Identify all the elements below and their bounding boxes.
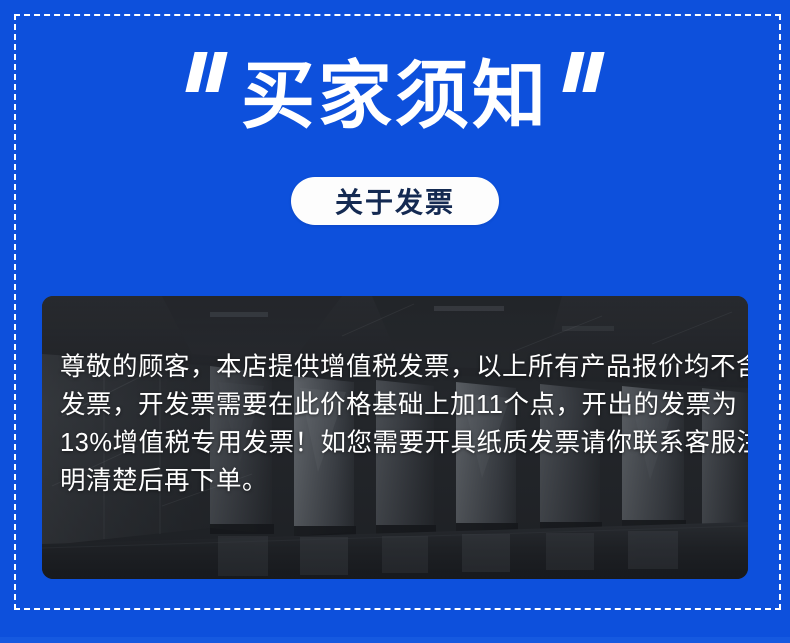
- buyer-notice-banner: 买家须知 关于发票: [0, 0, 790, 643]
- close-quote-icon: [567, 52, 600, 92]
- about-invoice-badge[interactable]: 关于发票: [291, 177, 499, 225]
- notice-line-1: 尊敬的顾客，本店提供增值税发票，以上所有产品报价均不含: [60, 348, 730, 386]
- page-title: 买家须知: [241, 59, 549, 133]
- headline: 买家须知: [0, 48, 790, 144]
- notice-line-4: 明清楚后再下单。: [60, 462, 730, 500]
- invoice-notice-panel: 尊敬的顾客，本店提供增值税发票，以上所有产品报价均不含 发票，开发票需要在此价格…: [42, 296, 748, 579]
- section-label-wrap: 关于发票: [0, 177, 790, 225]
- open-quote-icon: [190, 52, 223, 92]
- notice-line-3: 13%增值税专用发票！如您需要开具纸质发票请你联系客服注: [60, 424, 730, 462]
- notice-line-2: 发票，开发票需要在此价格基础上加11个点，开出的发票为: [60, 386, 730, 424]
- invoice-notice-text: 尊敬的顾客，本店提供增值税发票，以上所有产品报价均不含 发票，开发票需要在此价格…: [60, 348, 730, 500]
